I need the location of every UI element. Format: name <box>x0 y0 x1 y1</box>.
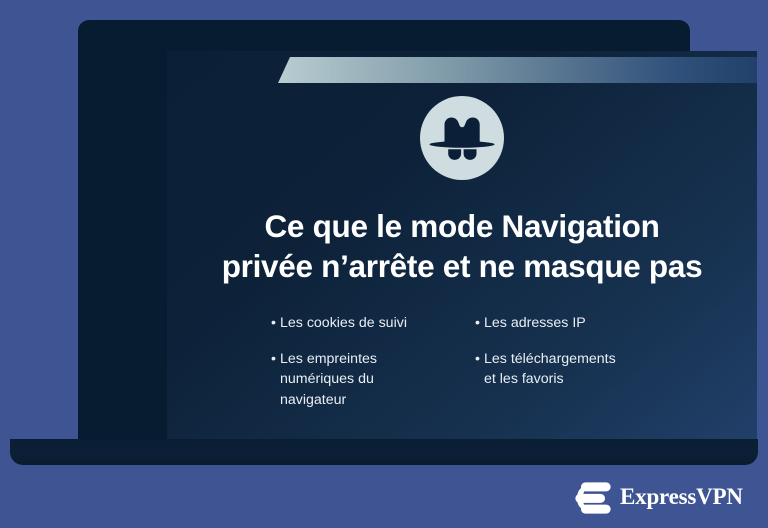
page-title-line-1: Ce que le mode Navigation <box>167 206 757 246</box>
laptop-lid-bezel: Ce que le mode Navigation privée n’arrêt… <box>78 20 690 445</box>
page-title-line-2: privée n’arrête et ne masque pas <box>167 246 757 286</box>
laptop-illustration: Ce que le mode Navigation privée n’arrêt… <box>0 0 768 470</box>
bullet-column-right: • Les adresses IP • Les téléchargements … <box>417 313 667 425</box>
bullet-columns: • Les cookies de suivi • Les empreintes … <box>167 313 757 425</box>
list-item-label: Les téléchargements et les favoris <box>484 349 624 390</box>
expressvpn-e-logo-icon <box>575 480 611 514</box>
list-item: • Les empreintes numériques du navigateu… <box>271 349 417 411</box>
screen-accent-bar <box>278 57 757 83</box>
list-item: • Les cookies de suivi <box>271 313 417 334</box>
list-item-label: Les cookies de suivi <box>280 313 408 334</box>
brand-footer: ExpressVPN <box>575 478 755 516</box>
laptop-base <box>10 439 758 465</box>
brand-wordmark: ExpressVPN <box>620 484 743 510</box>
list-item-label: Les adresses IP <box>484 313 624 334</box>
laptop-screen: Ce que le mode Navigation privée n’arrêt… <box>167 51 757 445</box>
list-item: • Les adresses IP <box>475 313 667 334</box>
bullet-dot-icon: • <box>475 349 484 370</box>
list-item-label: Les empreintes numériques du navigateur <box>280 349 408 411</box>
bullet-dot-icon: • <box>475 313 484 334</box>
list-item: • Les téléchargements et les favoris <box>475 349 667 390</box>
bullet-dot-icon: • <box>271 349 280 370</box>
page-title: Ce que le mode Navigation privée n’arrêt… <box>167 206 757 287</box>
bullet-dot-icon: • <box>271 313 280 334</box>
bullet-column-left: • Les cookies de suivi • Les empreintes … <box>167 313 417 425</box>
incognito-hat-glasses-icon <box>420 96 504 180</box>
